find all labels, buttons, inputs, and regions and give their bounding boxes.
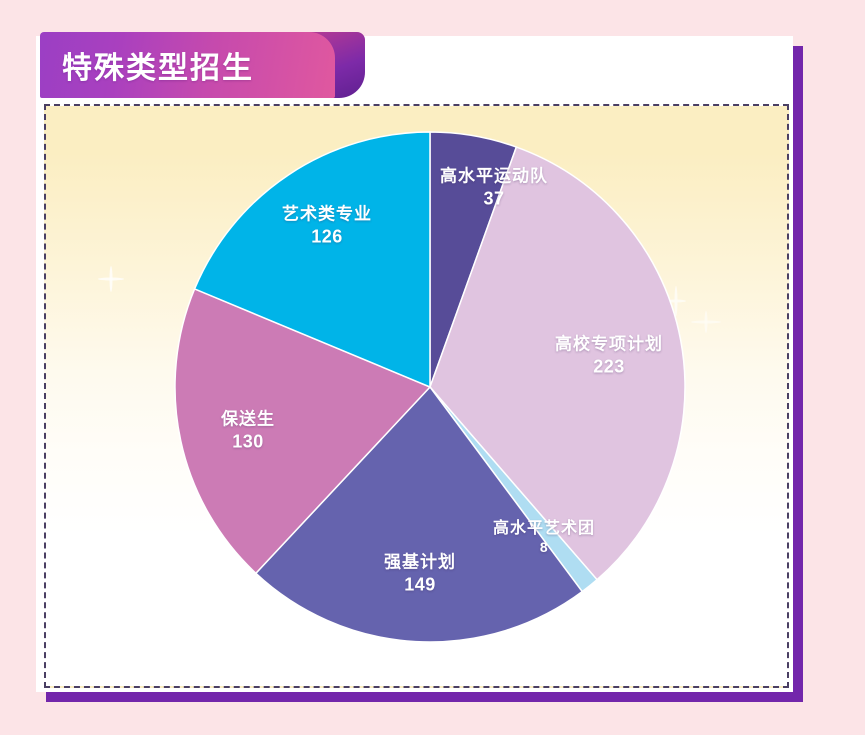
pie-chart: 高水平运动队37高校专项计划223高水平艺术团8强基计划149保送生130艺术类… — [46, 106, 789, 688]
page-title: 特殊类型招生 — [40, 43, 254, 87]
banner-body: 特殊类型招生 — [40, 32, 335, 98]
pie-chart-svg — [46, 106, 789, 688]
title-banner: 特殊类型招生 — [40, 32, 365, 98]
chart-content-frame: 高水平运动队37高校专项计划223高水平艺术团8强基计划149保送生130艺术类… — [44, 104, 789, 688]
